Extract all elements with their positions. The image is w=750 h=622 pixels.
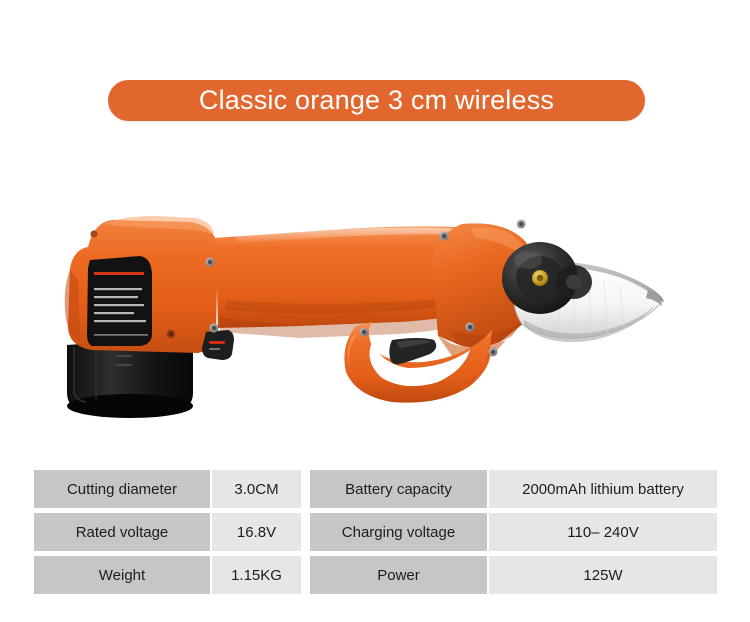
product-spec-label xyxy=(87,256,152,346)
spec-value: 3.0CM xyxy=(212,470,301,508)
spec-label: Power xyxy=(310,556,487,594)
spec-cell-group-left: Cutting diameter 3.0CM xyxy=(34,470,301,508)
spec-value: 1.15KG xyxy=(212,556,301,594)
spec-value: 2000mAh lithium battery xyxy=(489,470,717,508)
product-title-banner: Classic orange 3 cm wireless xyxy=(108,80,645,121)
page-title: Classic orange 3 cm wireless xyxy=(199,87,554,114)
trigger[interactable] xyxy=(389,338,436,364)
spec-label: Rated voltage xyxy=(34,513,210,551)
spec-cell-group-left: Rated voltage 16.8V xyxy=(34,513,301,551)
spec-cell-group-right: Power 125W xyxy=(310,556,717,594)
spec-label: Weight xyxy=(34,556,210,594)
spec-label: Battery capacity xyxy=(310,470,487,508)
table-row: Weight 1.15KG Power 125W xyxy=(34,556,717,594)
spec-cell-group-left: Weight 1.15KG xyxy=(34,556,301,594)
spec-value: 110– 240V xyxy=(489,513,717,551)
table-row: Rated voltage 16.8V Charging voltage 110… xyxy=(34,513,717,551)
power-indicator xyxy=(209,341,225,344)
table-row: Cutting diameter 3.0CM Battery capacity … xyxy=(34,470,717,508)
specification-table: Cutting diameter 3.0CM Battery capacity … xyxy=(34,470,717,598)
spec-value: 16.8V xyxy=(212,513,301,551)
power-switch[interactable] xyxy=(202,330,234,360)
spec-cell-group-right: Battery capacity 2000mAh lithium battery xyxy=(310,470,717,508)
spec-label: Charging voltage xyxy=(310,513,487,551)
spec-cell-group-right: Charging voltage 110– 240V xyxy=(310,513,717,551)
spec-value: 125W xyxy=(489,556,717,594)
product-image xyxy=(0,150,750,450)
spec-label: Cutting diameter xyxy=(34,470,210,508)
